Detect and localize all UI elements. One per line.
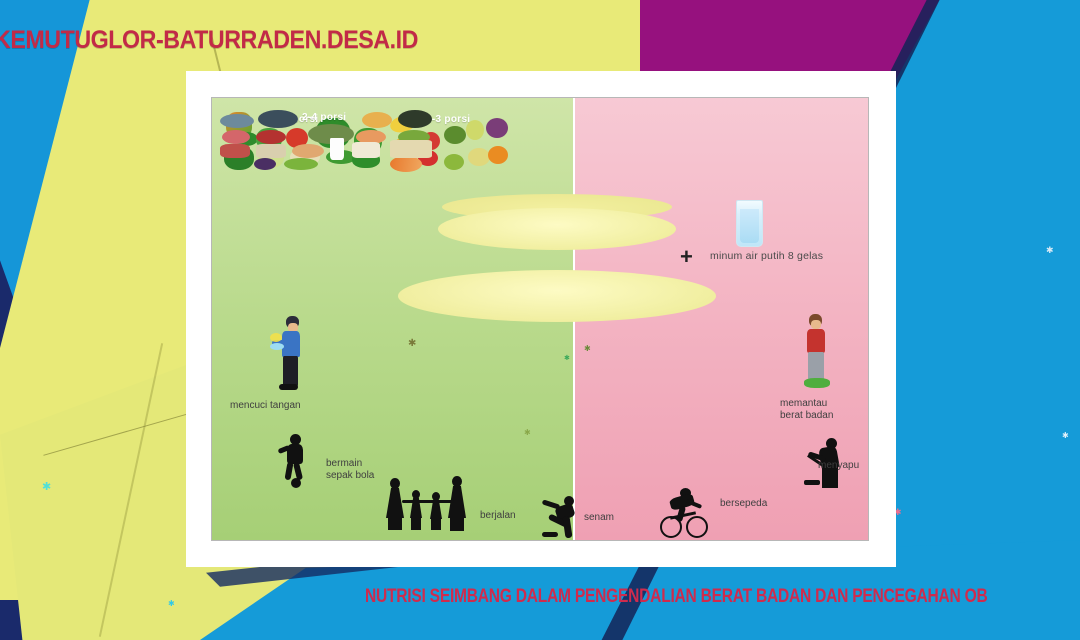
bottom-banner-title: NUTRISI SEIMBANG DALAM PENGENDALIAN BERA… xyxy=(365,586,988,608)
weight-scale-icon xyxy=(804,378,830,388)
label-memantau-line1: memantau xyxy=(780,398,827,410)
bicycle-wheel-front xyxy=(686,516,708,538)
label-menyapu: menyapu xyxy=(818,460,859,472)
weigh-pants xyxy=(808,352,824,380)
poster-star: ✱ xyxy=(584,344,591,353)
senam-foot xyxy=(542,532,558,537)
broom-head-icon xyxy=(804,480,820,485)
site-watermark: KEMUTUGLOR-BATURRADEN.DESA.ID xyxy=(0,26,418,55)
water-glass-icon xyxy=(736,200,763,247)
hand-wash-shoe xyxy=(279,384,298,390)
figure-walking-family xyxy=(384,476,474,532)
weigh-face xyxy=(811,320,821,329)
figure-washing-hands xyxy=(270,316,310,400)
nutrition-pyramid-poster: Batasi gula, garam dan minyak Gula Garam… xyxy=(212,98,868,540)
poster-inner-frame: Batasi gula, garam dan minyak Gula Garam… xyxy=(211,97,869,541)
senam-arm xyxy=(542,499,561,509)
poster-star: ✱ xyxy=(564,354,570,362)
tier-protein-plate xyxy=(438,208,676,250)
walk-child2-legs xyxy=(431,517,441,530)
water-note: minum air putih 8 gelas xyxy=(710,250,823,262)
walk-adult1-legs xyxy=(388,514,402,530)
poster-star: ✱ xyxy=(408,338,416,349)
label-sepakbola-line2: sepak bola xyxy=(326,470,374,482)
figure-soccer-player xyxy=(278,434,312,484)
plus-icon: + xyxy=(680,246,693,268)
tier-vegfruit-plate xyxy=(398,270,716,322)
hand-wash-legs xyxy=(283,356,298,386)
soap-bubble-icon xyxy=(270,333,282,342)
soccer-ball-icon xyxy=(291,478,301,488)
soccer-leg-1 xyxy=(284,462,293,481)
walk-adult1-head xyxy=(390,478,400,489)
label-bersepeda: bersepeda xyxy=(720,498,767,510)
label-memantau-line2: berat badan xyxy=(780,410,833,422)
walk-adult2-head xyxy=(452,476,462,487)
figure-exercise xyxy=(542,496,584,540)
figure-weight-monitor xyxy=(796,314,836,402)
walk-hands-link xyxy=(402,500,454,503)
label-senam: senam xyxy=(584,512,614,524)
poster-card: Batasi gula, garam dan minyak Gula Garam… xyxy=(186,71,896,567)
senam-leg-2 xyxy=(563,516,573,539)
poster-star: ✱ xyxy=(524,428,531,437)
figure-cyclist xyxy=(656,488,712,540)
walk-child1-head xyxy=(412,490,420,499)
label-berjalan: berjalan xyxy=(480,510,516,522)
water-splash-icon xyxy=(270,343,284,350)
walk-adult2-legs xyxy=(450,514,464,531)
weigh-shirt xyxy=(807,329,825,353)
label-mencuci-tangan: mencuci tangan xyxy=(230,400,301,412)
label-sepakbola-line1: bermain xyxy=(326,458,362,470)
walk-child1-legs xyxy=(411,516,421,530)
